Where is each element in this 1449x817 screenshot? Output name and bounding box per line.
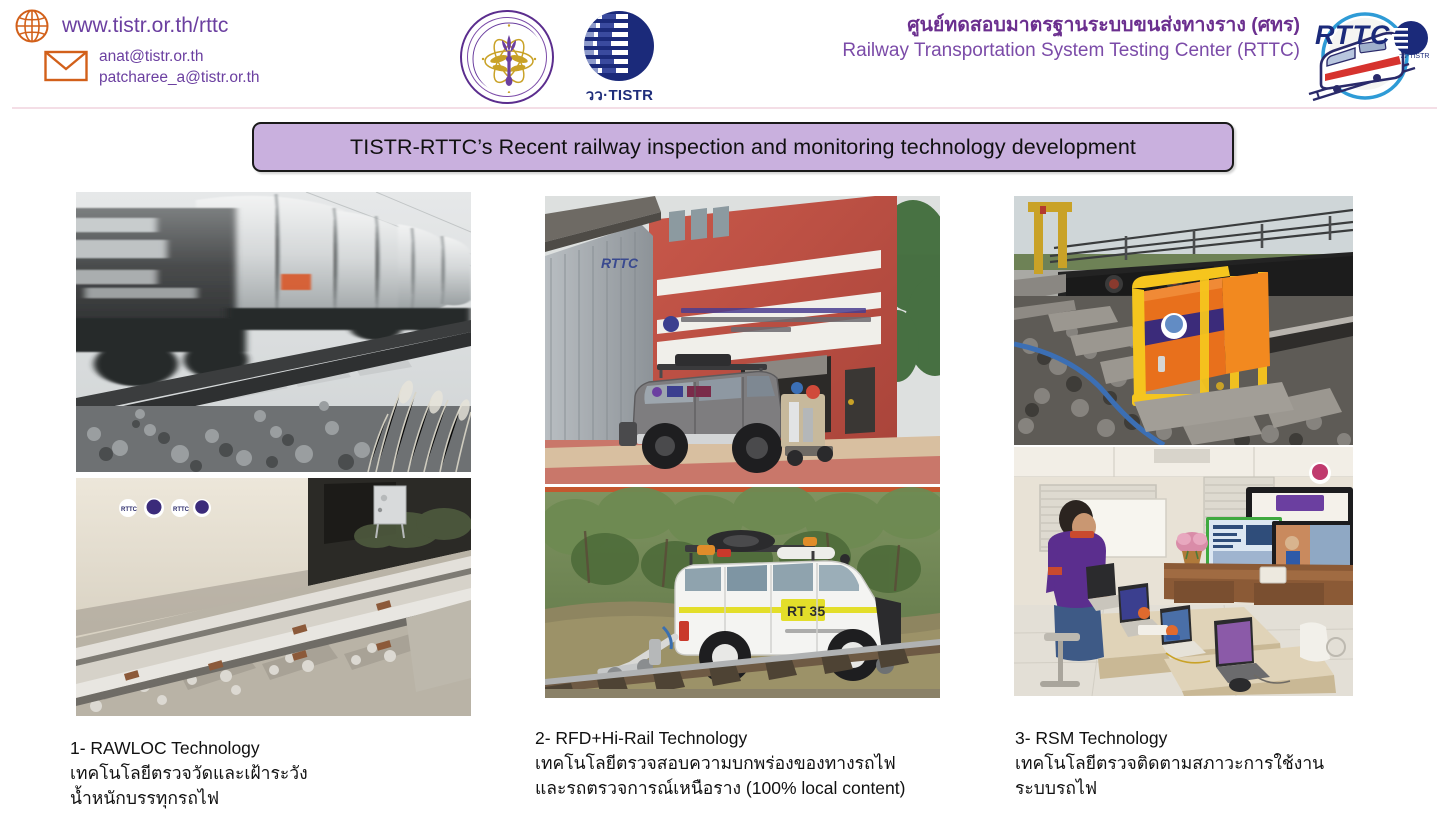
- rttc-train-logo: RTTC วว-TISTR: [1291, 8, 1439, 104]
- email-secondary[interactable]: patcharee_a@tistr.or.th: [99, 67, 260, 88]
- photo-hirail-truck-at-rttc-building: RTTC: [545, 196, 940, 484]
- tistr-sphere-logo: วว·TISTR: [562, 10, 677, 105]
- tistr-sphere-graphic: [562, 10, 677, 82]
- caption-rfd-hirail-line3: และรถตรวจการณ์เหนือราง (100% local conte…: [535, 776, 905, 801]
- envelope-icon: [44, 50, 88, 82]
- caption-rfd-hirail-line2: เทคโนโลยีตรวจสอบความบกพร่องของทางรถไฟ: [535, 751, 905, 776]
- caption-rfd-hirail: 2- RFD+Hi-Rail Technology เทคโนโลยีตรวจส…: [535, 726, 905, 801]
- photo-hirail-land-cruiser-rt35: RT 35: [545, 487, 940, 698]
- photo-rsm-track-monitoring-device: [1014, 196, 1353, 445]
- svg-text:RTTC: RTTC: [121, 507, 138, 513]
- tistr-wordmark: วว·TISTR: [562, 83, 677, 107]
- caption-rsm-title: 3- RSM Technology: [1015, 726, 1324, 751]
- photo-rawloc-test-track: RTTC RTTC: [76, 478, 471, 716]
- tistr-seal-logo: [460, 10, 554, 104]
- caption-rawloc-title: 1- RAWLOC Technology: [70, 736, 308, 761]
- slide-title-banner: TISTR-RTTC’s Recent railway inspection a…: [252, 122, 1234, 172]
- svg-text:RTTC: RTTC: [1315, 20, 1391, 50]
- website-row[interactable]: www.tistr.or.th/rttc: [14, 8, 260, 44]
- email-primary[interactable]: anat@tistr.or.th: [99, 46, 260, 67]
- caption-rsm-line3: ระบบรถไฟ: [1015, 776, 1324, 801]
- email-row: anat@tistr.or.th patcharee_a@tistr.or.th: [44, 46, 260, 89]
- rttc-logo-subtext: วว-TISTR: [1399, 53, 1429, 60]
- organization-title: ศูนย์ทดสอบมาตรฐานระบบขนส่งทางราง (ศทร) R…: [700, 12, 1300, 64]
- email-list: anat@tistr.or.th patcharee_a@tistr.or.th: [99, 46, 260, 89]
- website-link[interactable]: www.tistr.or.th/rttc: [62, 14, 229, 38]
- caption-rawloc: 1- RAWLOC Technology เทคโนโลยีตรวจวัดและ…: [70, 736, 308, 811]
- caption-rawloc-line2: เทคโนโลยีตรวจวัดและเฝ้าระวัง: [70, 761, 308, 786]
- contact-block: www.tistr.or.th/rttc anat@tistr.or.th pa…: [14, 8, 260, 89]
- vehicle-id-label: RT 35: [787, 603, 825, 619]
- org-title-thai: ศูนย์ทดสอบมาตรฐานระบบขนส่งทางราง (ศทร): [700, 12, 1300, 38]
- caption-rfd-hirail-title: 2- RFD+Hi-Rail Technology: [535, 726, 905, 751]
- slide-title-text: TISTR-RTTC’s Recent railway inspection a…: [350, 135, 1136, 160]
- page-header: www.tistr.or.th/rttc anat@tistr.or.th pa…: [0, 0, 1449, 108]
- globe-icon: [14, 8, 50, 44]
- caption-rsm-line2: เทคโนโลยีตรวจติดตามสภาวะการใช้งาน: [1015, 751, 1324, 776]
- photo-freight-train-on-track: [76, 192, 471, 472]
- caption-rsm: 3- RSM Technology เทคโนโลยีตรวจติดตามสภา…: [1015, 726, 1324, 801]
- caption-rawloc-line3: น้ำหนักบรรทุกรถไฟ: [70, 786, 308, 811]
- photo-rsm-monitoring-control-room: [1014, 447, 1353, 696]
- svg-text:RTTC: RTTC: [601, 255, 639, 271]
- svg-text:RTTC: RTTC: [173, 507, 190, 513]
- header-divider: [12, 107, 1437, 109]
- org-title-english: Railway Transportation System Testing Ce…: [700, 38, 1300, 64]
